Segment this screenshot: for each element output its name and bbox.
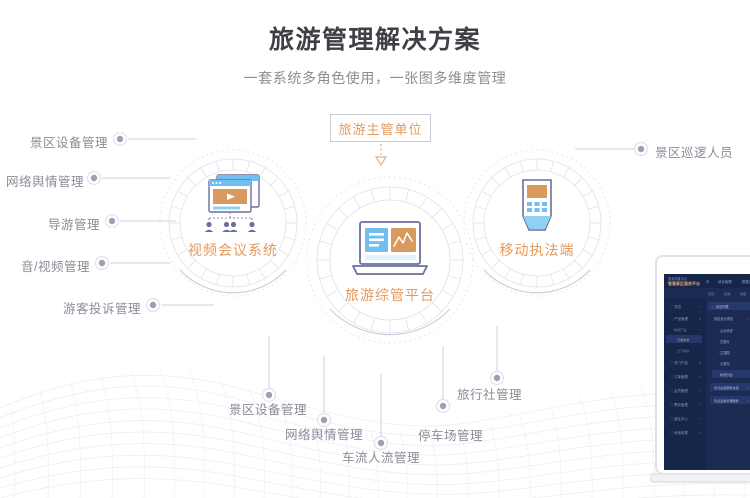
down-arrow-icon (372, 144, 390, 166)
spoke-label-scenic-device-mgmt-bottom[interactable]: 景区设备管理 (229, 399, 307, 418)
solution-diagram-page: 旅游管理解决方案 一套系统多角色使用，一张图多维度管理 (0, 0, 750, 498)
laptop-dashboard-mockup: 旅游综管平台 智慧景区服务平台 ☰综合管理数据监测 景区：区域：类型：状态： ⬚… (650, 252, 750, 498)
page-subtitle: 一套系统多角色使用，一张图多维度管理 (0, 68, 750, 88)
svg-text:类型：: 类型： (740, 291, 749, 296)
node-video-conference[interactable]: 视频会议系统 (158, 148, 308, 298)
page-header: 旅游管理解决方案 一套系统多角色使用，一张图多维度管理 (0, 0, 750, 88)
svg-text:›: › (699, 305, 700, 309)
node-tourism-platform-label: 旅游综管平台 (305, 285, 475, 305)
svg-text:新增产品: 新增产品 (674, 327, 686, 332)
spoke-label-guide-mgmt[interactable]: 导游管理 (22, 214, 100, 233)
svg-text:⬚ 票务管理: ⬚ 票务管理 (670, 402, 688, 407)
node-tourism-platform[interactable]: 旅游综管平台 (305, 175, 475, 345)
svg-text:◦ 九寨沟: ◦ 九寨沟 (718, 361, 730, 366)
node-mobile-enforcement[interactable]: 移动执法端 (462, 148, 612, 298)
authority-badge[interactable]: 旅游主管单位 (330, 114, 431, 142)
laptop-dashboard-icon (349, 220, 431, 278)
svg-text:›: › (699, 375, 700, 379)
spoke-label-av-mgmt[interactable]: 音/视频管理 (2, 256, 90, 275)
node-mobile-enforcement-label: 移动执法端 (462, 240, 612, 260)
svg-text:景点设施服务资源: 景点设施服务资源 (714, 385, 739, 390)
authority-badge-label: 旅游主管单位 (338, 119, 422, 138)
svg-text:区域：: 区域： (724, 291, 733, 296)
svg-text:›: › (699, 389, 700, 393)
svg-text:˅: ˅ (699, 361, 701, 365)
mobile-device-icon (513, 178, 561, 234)
svg-text:☰: ☰ (706, 280, 709, 284)
svg-text:◦ 山水风景: ◦ 山水风景 (718, 328, 733, 333)
spoke-label-travel-agency-mgmt[interactable]: 旅行社管理 (457, 384, 522, 403)
page-title: 旅游管理解决方案 (0, 24, 750, 57)
spoke-label-network-opinion-mgmt[interactable]: 网络舆情管理 (0, 171, 84, 190)
svg-text:˅: ˅ (747, 386, 749, 390)
svg-text:景区：: 景区： (708, 291, 717, 296)
spoke-label-parking-lot-mgmt[interactable]: 停车场管理 (418, 425, 483, 444)
svg-text:数据监测: 数据监测 (742, 279, 750, 284)
svg-text:˅: ˅ (699, 328, 701, 332)
video-conference-icon (197, 172, 269, 234)
svg-text:⬚ 景区中心: ⬚ 景区中心 (670, 416, 688, 421)
svg-text:◦ 古镇行: ◦ 古镇行 (718, 339, 730, 344)
svg-text:已发布的: 已发布的 (677, 337, 689, 342)
svg-text:…: … (746, 317, 749, 321)
svg-text:›: › (699, 417, 700, 421)
svg-text:已下架的: 已下架的 (677, 348, 689, 353)
spoke-label-tourist-complaint-mgmt[interactable]: 游客投诉管理 (39, 298, 141, 317)
svg-text:⬚ 总览: ⬚ 总览 (670, 304, 682, 309)
svg-text:景点设施管理服务: 景点设施管理服务 (714, 398, 739, 403)
svg-text:景区景点项目: 景区景点项目 (714, 316, 733, 321)
svg-text:科普乐园: 科普乐园 (720, 372, 732, 377)
svg-text:⬚ 会员管理: ⬚ 会员管理 (670, 388, 688, 393)
svg-text:⬚ 产品管理: ⬚ 产品管理 (670, 316, 689, 321)
node-video-conference-label: 视频会议系统 (158, 240, 308, 260)
svg-text:›: › (699, 431, 700, 435)
svg-text:◦ 主题园: ◦ 主题园 (718, 350, 730, 355)
svg-text:›: › (699, 403, 700, 407)
spoke-label-network-opinion-mgmt-bottom[interactable]: 网络舆情管理 (285, 424, 363, 443)
svg-text:⬚ 订单管理: ⬚ 订单管理 (670, 374, 688, 379)
spoke-label-scenic-device-mgmt[interactable]: 景区设备管理 (12, 132, 108, 151)
svg-text:˅: ˅ (747, 399, 749, 403)
svg-text:˅: ˅ (699, 317, 701, 321)
svg-text:⬚ 系统设置: ⬚ 系统设置 (670, 430, 688, 435)
svg-text:⬚ 热门产品: ⬚ 热门产品 (670, 360, 688, 365)
wave-mesh-background (0, 338, 750, 498)
svg-text:⬚ 景区列表: ⬚ 景区列表 (712, 304, 729, 309)
svg-text:智慧景区服务平台: 智慧景区服务平台 (668, 280, 700, 286)
svg-text:综合管理: 综合管理 (718, 279, 732, 284)
spoke-label-traffic-flow-mgmt[interactable]: 车流人流管理 (342, 447, 420, 466)
spoke-label-scenic-patrol-staff[interactable]: 景区巡逻人员 (655, 142, 733, 161)
